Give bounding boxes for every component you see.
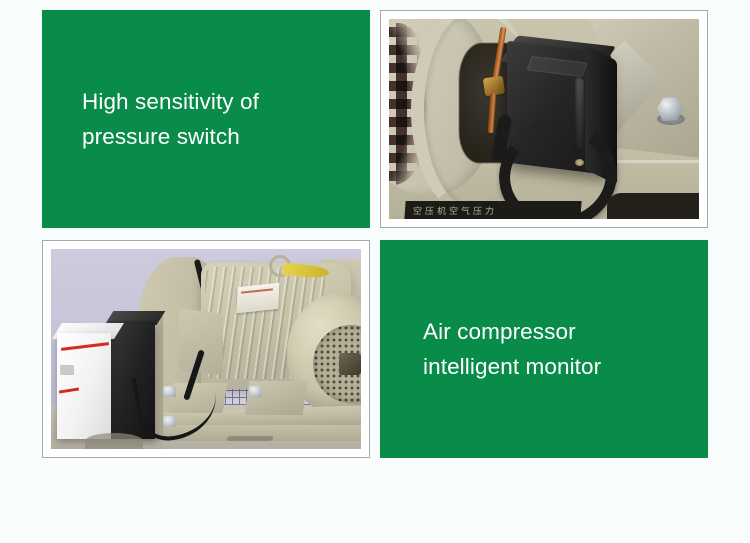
feature-panel-pressure-switch: High sensitivity of pressure switch bbox=[42, 10, 370, 228]
motor-nameplate bbox=[237, 283, 280, 314]
fan-cover-hub bbox=[339, 353, 361, 375]
frame-slot bbox=[226, 436, 274, 441]
monitor-display-slot bbox=[60, 365, 74, 375]
photo-frame-intelligent-monitor bbox=[42, 240, 370, 458]
intelligent-monitor-photo bbox=[51, 249, 361, 449]
dark-corner-shadow bbox=[607, 193, 699, 219]
caption-intelligent-monitor: Air compressor intelligent monitor bbox=[380, 314, 601, 384]
frame-bolt-c bbox=[249, 386, 262, 397]
feature-grid: High sensitivity of pressure switch bbox=[0, 0, 750, 543]
caption-pressure-switch: High sensitivity of pressure switch bbox=[42, 84, 259, 154]
feature-panel-intelligent-monitor: Air compressor intelligent monitor bbox=[380, 240, 708, 458]
warning-label-text: 空压机空气压力 bbox=[413, 204, 498, 217]
pressure-switch-photo: 空压机空气压力 bbox=[389, 19, 699, 219]
photo-frame-pressure-switch: 空压机空气压力 bbox=[380, 10, 708, 228]
floor-shadow bbox=[85, 433, 143, 449]
